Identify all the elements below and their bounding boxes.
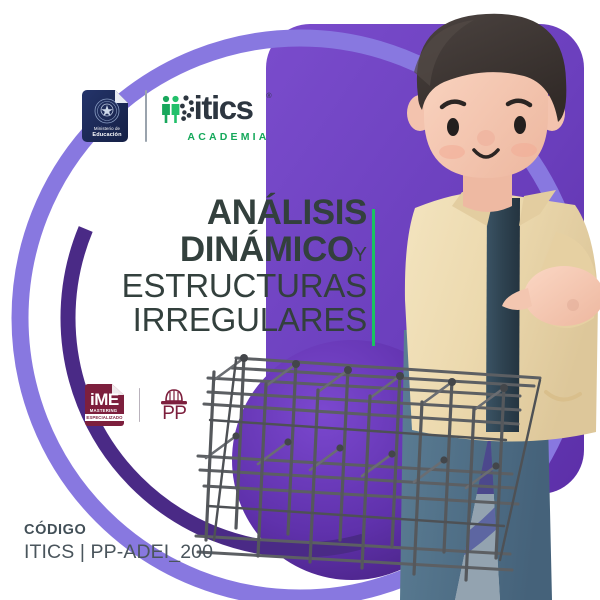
title-line-3: ESTRUCTURAS <box>37 270 367 303</box>
title-line-4: IRREGULARES <box>37 304 367 337</box>
ministry-logo-text: Ministerio de Educación <box>82 126 132 138</box>
code-label: CÓDIGO <box>24 522 213 538</box>
ime-line2: ESPECIALIZADO <box>85 414 124 421</box>
title-line-2-text: DINÁMICO <box>180 230 354 269</box>
ime-logo: iME MASTERING ESPECIALIZADO <box>84 383 125 427</box>
secondary-divider <box>139 388 140 422</box>
pp-logo: PP <box>154 383 194 427</box>
code-value: ITICS | PP-ADEI_200 <box>24 541 213 564</box>
ime-line1: MASTERING <box>84 408 123 413</box>
ministry-logo: Ministerio de Educación <box>82 88 132 144</box>
course-poster: Ministerio de Educación itics ® ACADEM <box>0 0 600 600</box>
secondary-logo-row: iME MASTERING ESPECIALIZADO PP <box>84 383 194 427</box>
itics-people-dots-icon <box>160 94 194 128</box>
header-logo-row: Ministerio de Educación itics ® ACADEM <box>82 88 272 144</box>
title-conjunction: Y <box>354 244 367 266</box>
pp-wordmark: PP <box>154 403 194 425</box>
header-divider <box>145 90 147 142</box>
ministry-line1: Ministerio de <box>94 126 120 131</box>
ministry-line2: Educación <box>82 132 132 138</box>
title-line-1: ANÁLISIS <box>37 196 367 231</box>
course-code-block: CÓDIGO ITICS | PP-ADEI_200 <box>24 522 213 564</box>
registered-mark: ® <box>266 93 271 100</box>
itics-subtitle: ACADEMIA <box>187 131 269 143</box>
itics-wordmark: itics <box>194 89 253 127</box>
green-accent-bar <box>372 209 375 346</box>
ime-wordmark: iME <box>90 390 119 410</box>
page-title: ANÁLISIS DINÁMICOY ESTRUCTURAS IRREGULAR… <box>37 196 367 337</box>
title-line-2: DINÁMICOY <box>37 233 367 268</box>
itics-logo: itics ® ACADEMIA <box>160 90 272 142</box>
